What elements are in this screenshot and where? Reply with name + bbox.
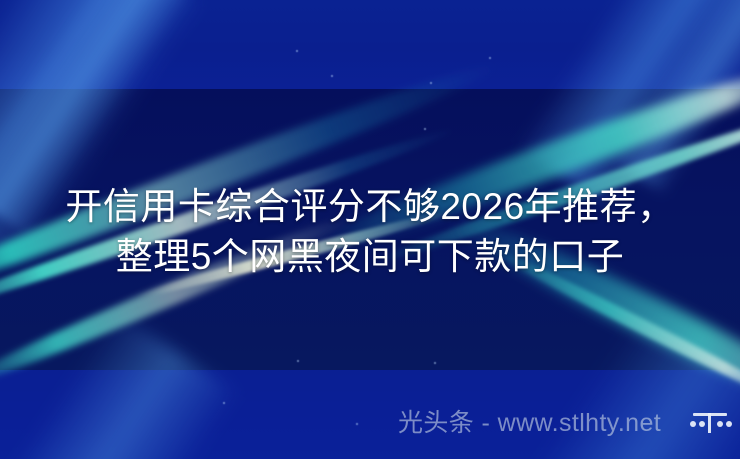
logo-dot xyxy=(717,421,723,427)
banner-headline: 开信用卡综合评分不够2026年推荐， 整理5个网黑夜间可下款的口子 xyxy=(0,182,740,282)
logo-dot xyxy=(690,421,696,427)
sparkle-icon xyxy=(489,57,491,59)
logo-dot xyxy=(726,421,732,427)
sparkle-icon xyxy=(331,75,333,77)
watermark-text: 光头条 - www.stlhty.net xyxy=(398,407,661,439)
sparkle-icon xyxy=(434,362,436,364)
site-logo-icon xyxy=(688,409,734,437)
sparkle-icon xyxy=(430,82,432,84)
logo-stem xyxy=(708,413,711,433)
sparkle-icon xyxy=(223,402,225,404)
promo-banner: 开信用卡综合评分不够2026年推荐， 整理5个网黑夜间可下款的口子 光头条 - … xyxy=(0,0,740,459)
sparkle-icon xyxy=(424,128,426,130)
sparkle-icon xyxy=(356,423,358,425)
sparkle-icon xyxy=(297,360,299,362)
logo-dot xyxy=(699,421,705,427)
background-band-top xyxy=(0,0,740,89)
sparkle-icon xyxy=(296,50,298,52)
